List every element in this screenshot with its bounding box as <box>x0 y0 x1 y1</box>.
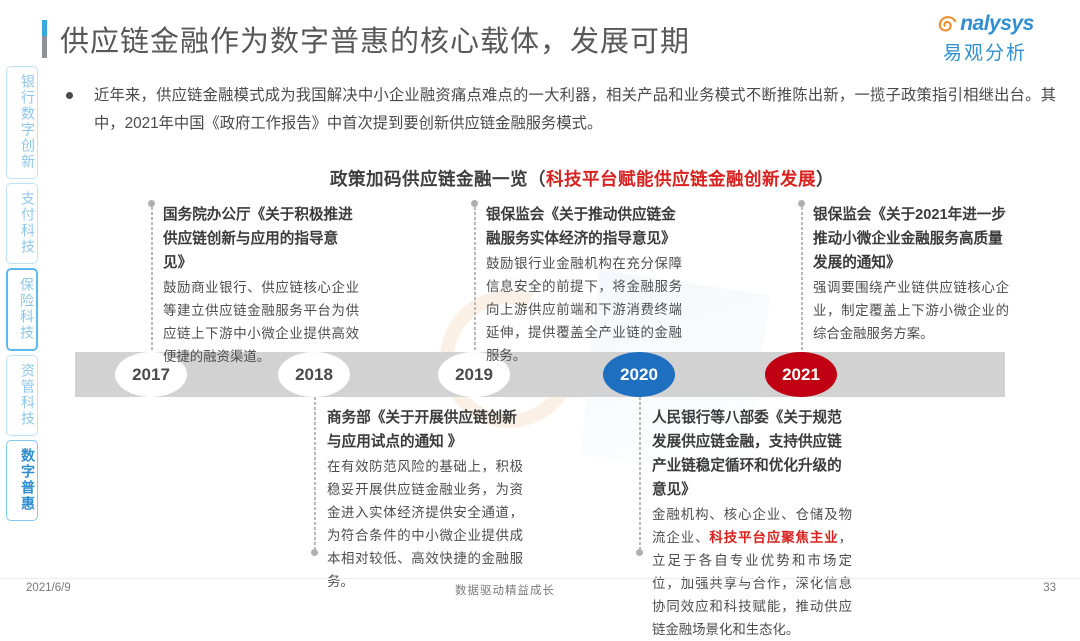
intro-bullet: 近年来，供应链金融模式成为我国解决中小企业融资痛点难点的一大利器，相关产品和业务… <box>66 82 1056 138</box>
timeline-event-2021: 银保监会《关于2021年进一步推动小微企业金融服务高质量发展的通知》 强调要围绕… <box>813 203 1009 345</box>
connector-dot-2019 <box>471 200 478 207</box>
footer-page-number: 33 <box>1043 582 1056 594</box>
event-body-post: ，立足于各自专业优势和市场定位，加强共享与合作，深化信息协同效应和科技赋能，推动… <box>652 530 852 637</box>
timeline-marker-2021[interactable]: 2021 <box>765 352 837 397</box>
connector-line-2020 <box>639 397 641 549</box>
connector-dot-2021 <box>798 200 805 207</box>
logo-wordmark-cn: 易观分析 <box>920 38 1050 65</box>
sidebar-item-label: 保险科技 <box>19 277 35 341</box>
sidebar-item-bank-digital[interactable]: 银行数字创新 <box>6 66 38 179</box>
sidebar-item-asset-management-tech[interactable]: 资管科技 <box>6 355 38 436</box>
event-body-emphasis: 科技平台应聚焦主业 <box>709 530 838 545</box>
sidebar-item-label: 数字普惠 <box>20 448 36 512</box>
event-body: 强调要围绕产业链供应链核心企业，制定覆盖上下游小微企业的综合金融服务方案。 <box>813 276 1009 345</box>
chart-title-tail: ） <box>816 169 834 189</box>
event-heading: 商务部《关于开展供应链创新与应用试点的通知 》 <box>327 406 523 454</box>
connector-dot-2018 <box>311 549 318 556</box>
event-body: 鼓励商业银行、供应链核心企业等建立供应链金融服务平台为供应链上下游中小微企业提供… <box>163 276 359 368</box>
timeline-event-2019: 银保监会《关于推动供应链金融服务实体经济的指导意见》 鼓励银行业金融机构在充分保… <box>486 203 682 367</box>
event-heading: 国务院办公厅《关于积极推进供应链创新与应用的指导意见》 <box>163 203 359 275</box>
event-heading: 银保监会《关于2021年进一步推动小微企业金融服务高质量发展的通知》 <box>813 203 1009 275</box>
page-title-text: 供应链金融作为数字普惠的核心载体，发展可期 <box>60 18 690 60</box>
event-heading: 人民银行等八部委《关于规范发展供应链金融，支持供应链产业链稳定循环和优化升级的意… <box>652 406 852 502</box>
chart-title-emphasis: 科技平台赋能供应链金融创新发展 <box>546 169 816 189</box>
connector-line-2017 <box>151 207 153 352</box>
connector-dot-2017 <box>148 200 155 207</box>
sidebar-item-digital-inclusive-finance[interactable]: 数字普惠 <box>6 440 38 521</box>
connector-line-2018 <box>314 397 316 549</box>
footer-slogan: 数据驱动精益成长 <box>455 582 555 598</box>
brand-logo: nalysys 易观分析 <box>920 12 1050 65</box>
sidebar-item-label: 支付科技 <box>20 191 36 255</box>
connector-dot-2020 <box>636 549 643 556</box>
footer-date: 2021/6/9 <box>26 582 71 594</box>
bullet-dot-icon <box>66 92 73 99</box>
event-heading: 银保监会《关于推动供应链金融服务实体经济的指导意见》 <box>486 203 682 251</box>
timeline-event-2020: 人民银行等八部委《关于规范发展供应链金融，支持供应链产业链稳定循环和优化升级的意… <box>652 406 852 641</box>
sidebar-item-insurance-tech[interactable]: 保险科技 <box>6 268 38 351</box>
timeline-marker-label: 2019 <box>455 365 493 385</box>
sidebar-tabs: 银行数字创新 支付科技 保险科技 资管科技 数字普惠 <box>6 66 40 525</box>
sidebar-item-label: 银行数字创新 <box>20 74 36 170</box>
connector-line-2021 <box>801 207 803 352</box>
connector-line-2019 <box>474 207 476 352</box>
title-accent-bar <box>42 20 47 58</box>
event-body: 金融机构、核心企业、仓储及物流企业、科技平台应聚焦主业，立足于各自专业优势和市场… <box>652 503 852 641</box>
chart-title-main: 政策加码供应链金融一览（ <box>330 169 546 189</box>
timeline-marker-label: 2021 <box>782 365 820 385</box>
event-body: 在有效防范风险的基础上，积极稳妥开展供应链金融业务，为资金进入实体经济提供安全通… <box>327 455 523 593</box>
footer-divider <box>0 578 1080 579</box>
sidebar-item-payment-tech[interactable]: 支付科技 <box>6 183 38 264</box>
page-title: 供应链金融作为数字普惠的核心载体，发展可期 <box>42 18 690 60</box>
event-body: 鼓励银行业金融机构在充分保障信息安全的前提下，将金融服务向上游供应前端和下游消费… <box>486 252 682 367</box>
intro-bullet-text: 近年来，供应链金融模式成为我国解决中小企业融资痛点难点的一大利器，相关产品和业务… <box>94 82 1056 138</box>
logo-wordmark-en: nalysys <box>960 13 1034 34</box>
sidebar-item-label: 资管科技 <box>20 363 36 427</box>
chart-title: 政策加码供应链金融一览（科技平台赋能供应链金融创新发展） <box>330 166 834 191</box>
analysys-swirl-icon <box>936 14 959 37</box>
timeline-event-2018: 商务部《关于开展供应链创新与应用试点的通知 》 在有效防范风险的基础上，积极稳妥… <box>327 406 523 593</box>
timeline-marker-label: 2020 <box>620 365 658 385</box>
timeline-event-2017: 国务院办公厅《关于积极推进供应链创新与应用的指导意见》 鼓励商业银行、供应链核心… <box>163 203 359 368</box>
